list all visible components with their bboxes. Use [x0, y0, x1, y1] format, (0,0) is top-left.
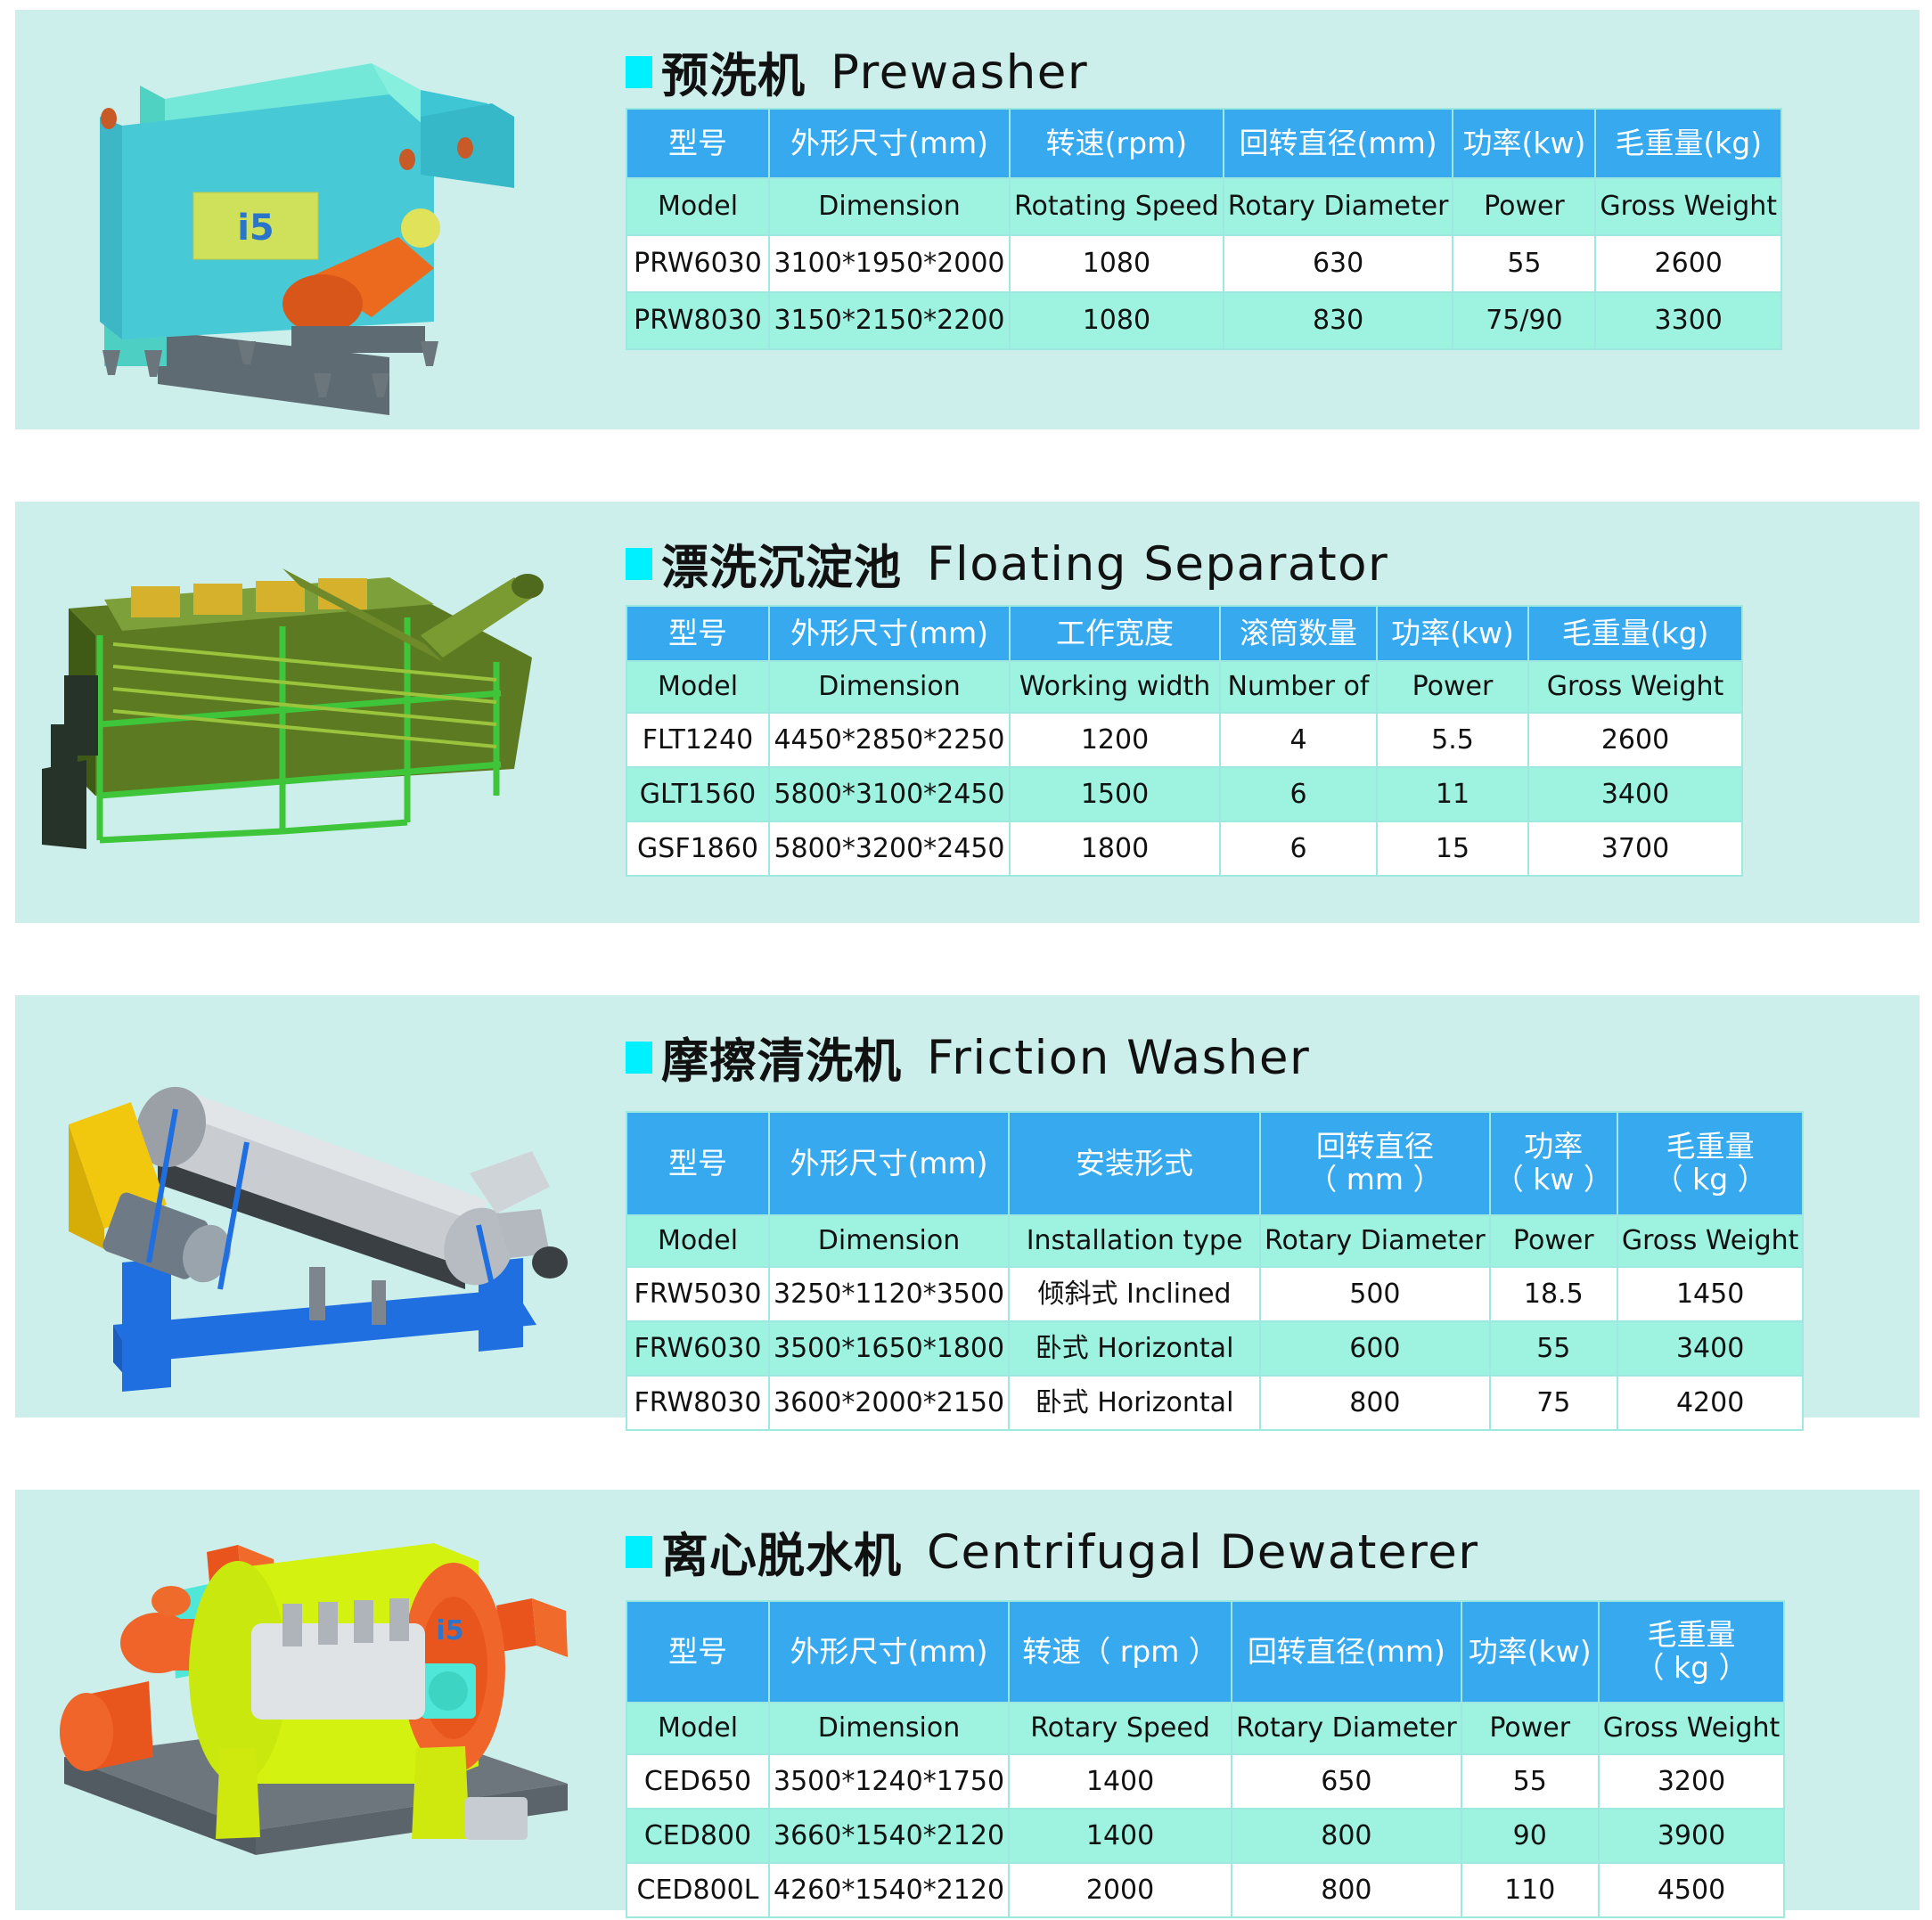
floating-separator-figure: [15, 502, 603, 923]
header-cell: Model: [627, 179, 768, 234]
cell-weight: 2600: [1596, 236, 1781, 291]
header-cell: Number of: [1221, 662, 1376, 712]
table-row: PRW6030 3100*1950*2000 1080 630 55 2600: [627, 236, 1781, 291]
table-header-row-cn: 型号 外形尺寸(mm) 转速(rpm) 回转直径(mm) 功率(kw) 毛重量(…: [627, 110, 1781, 177]
header-cell: 毛重量（ kg ）: [1600, 1602, 1784, 1702]
table-row: CED650 3500*1240*1750 1400 650 55 3200: [627, 1755, 1783, 1808]
cell-model: FRW8030: [627, 1377, 768, 1429]
table-row: PRW8030 3150*2150*2200 1080 830 75/90 33…: [627, 293, 1781, 348]
section-title-en: Prewasher: [831, 45, 1088, 100]
cell-dimension: 4260*1540*2120: [770, 1864, 1008, 1916]
section-title-cn: 预洗机: [661, 38, 806, 106]
cell-model: FLT1240: [627, 714, 768, 766]
header-cell: Rotary Speed: [1010, 1703, 1231, 1753]
cell-speed: 1080: [1011, 293, 1223, 348]
cell-weight: 3400: [1529, 768, 1741, 821]
cell-working-width: 1500: [1011, 768, 1219, 821]
header-cell: 外形尺寸(mm): [770, 607, 1009, 660]
cell-power: 90: [1462, 1810, 1598, 1862]
cell-dimension: 5800*3100*2450: [770, 768, 1009, 821]
table-row: FRW6030 3500*1650*1800 卧式 Horizontal 600…: [627, 1322, 1802, 1375]
svg-text:i5: i5: [237, 208, 274, 249]
spec-table-floating-separator: 型号 外形尺寸(mm) 工作宽度 滚筒数量 功率(kw) 毛重量(kg) Mod…: [626, 605, 1743, 877]
header-cell: 滚筒数量: [1221, 607, 1376, 660]
header-cell: 外形尺寸(mm): [770, 1113, 1008, 1214]
section-floating-separator: 漂洗沉淀池 Floating Separator 型号 外形尺寸(mm) 工作宽…: [15, 502, 1920, 923]
header-cell: 功率（ kw ）: [1491, 1113, 1617, 1214]
centrifugal-dewaterer-illustration-icon: i5: [15, 1490, 603, 1910]
header-cell: 型号: [627, 1602, 768, 1702]
header-cell: 回转直径(mm): [1232, 1602, 1461, 1702]
cell-model: CED800L: [627, 1864, 768, 1916]
prewasher-illustration-icon: i5: [15, 10, 603, 429]
cell-dimension: 3500*1650*1800: [770, 1322, 1008, 1375]
header-cell: 型号: [627, 1113, 768, 1214]
header-cell: 外形尺寸(mm): [770, 1602, 1008, 1702]
cell-power: 75/90: [1453, 293, 1594, 348]
cell-working-width: 1200: [1011, 714, 1219, 766]
cell-model: PRW6030: [627, 236, 768, 291]
cell-diameter: 600: [1261, 1322, 1489, 1375]
table-row: FRW8030 3600*2000*2150 卧式 Horizontal 800…: [627, 1377, 1802, 1429]
header-cell: Gross Weight: [1618, 1216, 1803, 1266]
header-cell: Gross Weight: [1600, 1703, 1784, 1753]
cell-dimension: 5800*3200*2450: [770, 822, 1009, 875]
table-header-row-cn: 型号 外形尺寸(mm) 安装形式 回转直径（ mm ） 功率（ kw ） 毛重量…: [627, 1113, 1802, 1214]
table-header-row-cn: 型号 外形尺寸(mm) 工作宽度 滚筒数量 功率(kw) 毛重量(kg): [627, 607, 1741, 660]
table-header-row-en: Model Dimension Working width Number of …: [627, 662, 1741, 712]
section-title-cn: 漂洗沉淀池: [661, 530, 902, 598]
cell-diameter: 630: [1224, 236, 1453, 291]
cell-power: 11: [1378, 768, 1527, 821]
header-cell: Rotary Diameter: [1224, 179, 1453, 234]
cell-speed: 2000: [1010, 1864, 1231, 1916]
cell-model: GLT1560: [627, 768, 768, 821]
header-cell: Model: [627, 662, 768, 712]
cell-model: CED800: [627, 1810, 768, 1862]
spec-table-friction-washer: 型号 外形尺寸(mm) 安装形式 回转直径（ mm ） 功率（ kw ） 毛重量…: [626, 1111, 1804, 1431]
cell-weight: 2600: [1529, 714, 1741, 766]
header-cell: 功率(kw): [1462, 1602, 1598, 1702]
header-cell: 型号: [627, 110, 768, 177]
cell-diameter: 800: [1232, 1810, 1461, 1862]
cell-dimension: 3100*1950*2000: [770, 236, 1009, 291]
cell-power: 75: [1491, 1377, 1617, 1429]
table-header-row-en: Model Dimension Installation type Rotary…: [627, 1216, 1802, 1266]
cell-model: FRW5030: [627, 1268, 768, 1320]
section-title-cn: 摩擦清洗机: [661, 1024, 902, 1091]
table-row: CED800L 4260*1540*2120 2000 800 110 4500: [627, 1864, 1783, 1916]
cell-model: FRW6030: [627, 1322, 768, 1375]
cell-installation-type: 倾斜式 Inclined: [1010, 1268, 1259, 1320]
section-heading-floating-separator: 漂洗沉淀池 Floating Separator: [626, 530, 1388, 598]
section-title-en: Friction Washer: [927, 1031, 1310, 1085]
centrifugal-dewaterer-figure: i5: [15, 1490, 603, 1910]
section-heading-friction-washer: 摩擦清洗机 Friction Washer: [626, 1024, 1310, 1091]
header-cell: 安装形式: [1010, 1113, 1259, 1214]
prewasher-figure: i5: [15, 10, 603, 429]
prewasher-content: 预洗机 Prewasher 型号 外形尺寸(mm) 转速(rpm) 回转直径(m…: [603, 10, 1920, 429]
header-cell: 转速（ rpm ）: [1010, 1602, 1231, 1702]
square-bullet-icon: [626, 548, 652, 580]
cell-dimension: 3150*2150*2200: [770, 293, 1009, 348]
header-cell: 回转直径(mm): [1224, 110, 1453, 177]
spec-table-prewasher: 型号 外形尺寸(mm) 转速(rpm) 回转直径(mm) 功率(kw) 毛重量(…: [626, 108, 1782, 350]
cell-diameter: 830: [1224, 293, 1453, 348]
square-bullet-icon: [626, 1536, 652, 1568]
section-centrifugal-dewaterer: i5 离心: [15, 1490, 1920, 1910]
cell-weight: 3700: [1529, 822, 1741, 875]
cell-weight: 3200: [1600, 1755, 1784, 1808]
cell-installation-type: 卧式 Horizontal: [1010, 1377, 1259, 1429]
header-cell: 毛重量(kg): [1596, 110, 1781, 177]
cell-weight: 1450: [1618, 1268, 1803, 1320]
header-cell: 回转直径（ mm ）: [1261, 1113, 1489, 1214]
floating-separator-content: 漂洗沉淀池 Floating Separator 型号 外形尺寸(mm) 工作宽…: [603, 502, 1920, 923]
header-cell: Rotating Speed: [1011, 179, 1223, 234]
table-row: CED800 3660*1540*2120 1400 800 90 3900: [627, 1810, 1783, 1862]
cell-power: 55: [1491, 1322, 1617, 1375]
header-cell: Model: [627, 1703, 768, 1753]
header-cell: Dimension: [770, 662, 1009, 712]
table-header-row-en: Model Dimension Rotating Speed Rotary Di…: [627, 179, 1781, 234]
section-heading-centrifugal-dewaterer: 离心脱水机 Centrifugal Dewaterer: [626, 1518, 1479, 1586]
square-bullet-icon: [626, 56, 652, 88]
cell-diameter: 800: [1261, 1377, 1489, 1429]
cell-speed: 1400: [1010, 1810, 1231, 1862]
section-title-cn: 离心脱水机: [661, 1518, 902, 1586]
cell-installation-type: 卧式 Horizontal: [1010, 1322, 1259, 1375]
section-title-en: Floating Separator: [927, 537, 1388, 592]
cell-weight: 4500: [1600, 1864, 1784, 1916]
cell-speed: 1400: [1010, 1755, 1231, 1808]
header-cell: 功率(kw): [1378, 607, 1527, 660]
table-row: GLT1560 5800*3100*2450 1500 6 11 3400: [627, 768, 1741, 821]
cell-model: PRW8030: [627, 293, 768, 348]
section-heading-prewasher: 预洗机 Prewasher: [626, 38, 1088, 106]
friction-washer-illustration-icon: [15, 995, 603, 1418]
section-friction-washer: 摩擦清洗机 Friction Washer 型号 外形尺寸(mm) 安装形式 回…: [15, 995, 1920, 1418]
cell-dimension: 3660*1540*2120: [770, 1810, 1008, 1862]
header-cell: 工作宽度: [1011, 607, 1219, 660]
section-title-en: Centrifugal Dewaterer: [927, 1525, 1479, 1580]
cell-power: 15: [1378, 822, 1527, 875]
header-cell: Dimension: [770, 1703, 1008, 1753]
cell-weight: 3300: [1596, 293, 1781, 348]
header-cell: 毛重量(kg): [1529, 607, 1741, 660]
cell-model: CED650: [627, 1755, 768, 1808]
cell-diameter: 500: [1261, 1268, 1489, 1320]
cell-dimension: 3600*2000*2150: [770, 1377, 1008, 1429]
friction-washer-content: 摩擦清洗机 Friction Washer 型号 外形尺寸(mm) 安装形式 回…: [603, 995, 1920, 1418]
header-cell: Gross Weight: [1529, 662, 1741, 712]
cell-power: 18.5: [1491, 1268, 1617, 1320]
table-header-row-en: Model Dimension Rotary Speed Rotary Diam…: [627, 1703, 1783, 1753]
header-cell: Power: [1378, 662, 1527, 712]
cell-power: 55: [1453, 236, 1594, 291]
cell-diameter: 800: [1232, 1864, 1461, 1916]
cell-power: 110: [1462, 1864, 1598, 1916]
header-cell: Gross Weight: [1596, 179, 1781, 234]
cell-weight: 4200: [1618, 1377, 1803, 1429]
cell-number: 6: [1221, 822, 1376, 875]
header-cell: 功率(kw): [1453, 110, 1594, 177]
header-cell: Power: [1453, 179, 1594, 234]
cell-number: 6: [1221, 768, 1376, 821]
cell-speed: 1080: [1011, 236, 1223, 291]
table-row: FLT1240 4450*2850*2250 1200 4 5.5 2600: [627, 714, 1741, 766]
floating-separator-illustration-icon: [15, 502, 603, 923]
cell-dimension: 3500*1240*1750: [770, 1755, 1008, 1808]
cell-model: GSF1860: [627, 822, 768, 875]
product-spec-sheet: i5: [0, 0, 1932, 1920]
header-cell: Rotary Diameter: [1261, 1216, 1489, 1266]
square-bullet-icon: [626, 1042, 652, 1074]
cell-working-width: 1800: [1011, 822, 1219, 875]
table-row: GSF1860 5800*3200*2450 1800 6 15 3700: [627, 822, 1741, 875]
header-cell: 毛重量（ kg ）: [1618, 1113, 1803, 1214]
header-cell: Installation type: [1010, 1216, 1259, 1266]
header-cell: Power: [1462, 1703, 1598, 1753]
header-cell: Model: [627, 1216, 768, 1266]
section-prewasher: i5: [15, 10, 1920, 429]
cell-number: 4: [1221, 714, 1376, 766]
spec-table-centrifugal-dewaterer: 型号 外形尺寸(mm) 转速（ rpm ） 回转直径(mm) 功率(kw) 毛重…: [626, 1600, 1785, 1918]
cell-dimension: 3250*1120*3500: [770, 1268, 1008, 1320]
table-row: FRW5030 3250*1120*3500 倾斜式 Inclined 500 …: [627, 1268, 1802, 1320]
cell-power: 55: [1462, 1755, 1598, 1808]
header-cell: Rotary Diameter: [1232, 1703, 1461, 1753]
table-header-row-cn: 型号 外形尺寸(mm) 转速（ rpm ） 回转直径(mm) 功率(kw) 毛重…: [627, 1602, 1783, 1702]
header-cell: Power: [1491, 1216, 1617, 1266]
cell-dimension: 4450*2850*2250: [770, 714, 1009, 766]
header-cell: Dimension: [770, 179, 1009, 234]
header-cell: Working width: [1011, 662, 1219, 712]
cell-diameter: 650: [1232, 1755, 1461, 1808]
cell-power: 5.5: [1378, 714, 1527, 766]
friction-washer-figure: [15, 995, 603, 1418]
centrifugal-dewaterer-content: 离心脱水机 Centrifugal Dewaterer 型号 外形尺寸(mm) …: [603, 1490, 1920, 1910]
cell-weight: 3400: [1618, 1322, 1803, 1375]
svg-text:i5: i5: [436, 1615, 463, 1646]
header-cell: Dimension: [770, 1216, 1008, 1266]
header-cell: 外形尺寸(mm): [770, 110, 1009, 177]
header-cell: 转速(rpm): [1011, 110, 1223, 177]
header-cell: 型号: [627, 607, 768, 660]
cell-weight: 3900: [1600, 1810, 1784, 1862]
